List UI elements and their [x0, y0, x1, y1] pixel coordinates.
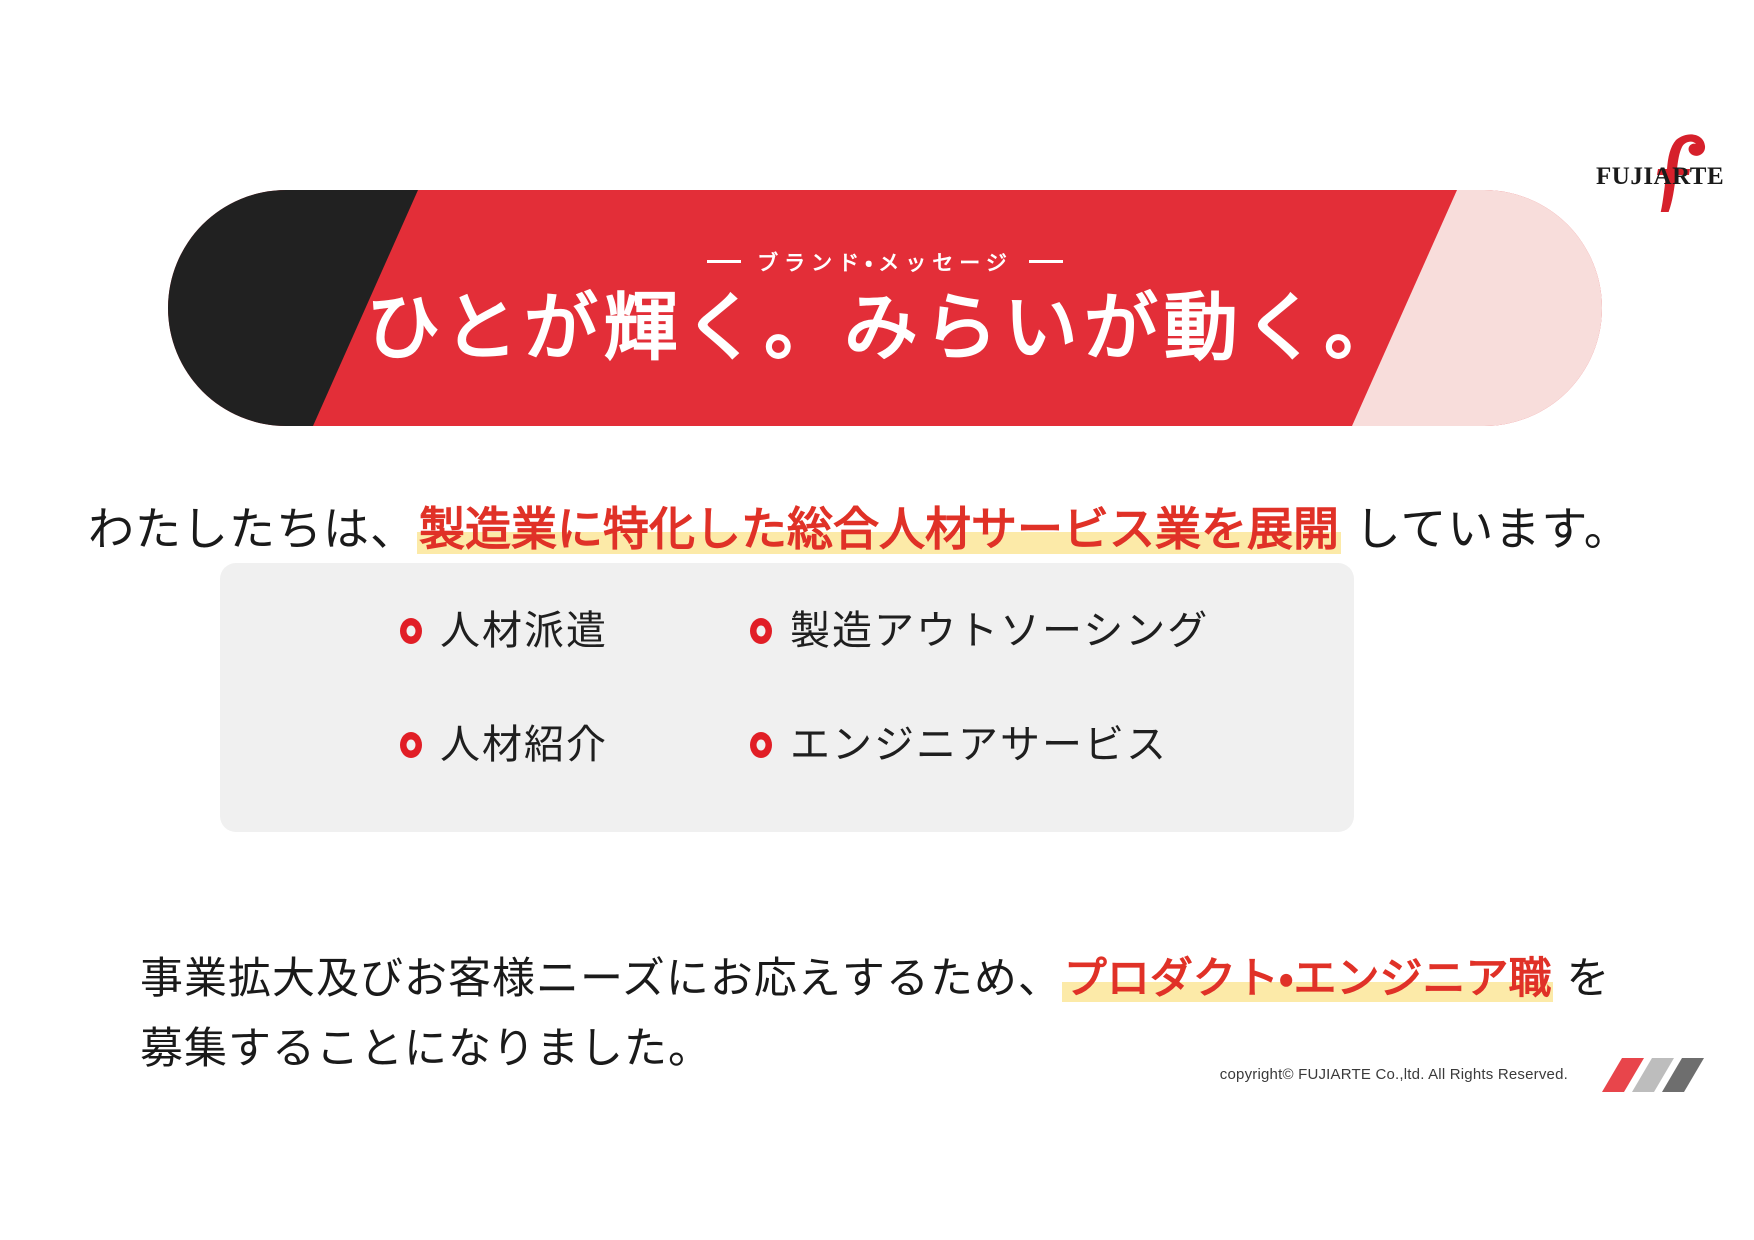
lead-highlight: 製造業に特化した総合人材サービス業を展開: [417, 503, 1341, 555]
services-grid: 人材派遣 製造アウトソーシング 人材紹介 エンジニアサービス: [400, 611, 1209, 765]
closing-highlight: プロダクト・エンジニア職: [1062, 955, 1554, 1003]
closing-text-after: を: [1553, 955, 1610, 1003]
service-label: 人材紹介: [440, 725, 608, 765]
service-label: エンジニアサービス: [790, 725, 1168, 765]
eyebrow-rule-left: [707, 260, 741, 263]
service-item: 人材派遣: [400, 611, 750, 651]
diagonal-stripes-icon: [1600, 1058, 1726, 1092]
services-panel: 人材派遣 製造アウトソーシング 人材紹介 エンジニアサービス: [220, 563, 1354, 832]
ring-bullet-icon: [400, 732, 422, 758]
service-label: 人材派遣: [440, 611, 608, 651]
closing-line-1: 事業拡大及びお客様ニーズにお応えするため、プロダクト・エンジニア職 を: [140, 945, 1700, 1015]
banner-slogan: ひとが輝く。みらいが動く。: [366, 287, 1404, 370]
logo-wordmark: FUJIARTE: [1596, 163, 1724, 190]
eyebrow-rule-right: [1029, 260, 1063, 263]
service-item: 製造アウトソーシング: [750, 611, 1209, 651]
lead-text-after: しています。: [1341, 503, 1631, 555]
service-item: エンジニアサービス: [750, 725, 1209, 765]
service-item: 人材紹介: [400, 725, 750, 765]
lead-sentence: わたしたちは、製造業に特化した総合人材サービス業を展開 しています。: [88, 500, 1678, 559]
eyebrow-label: ブランド・メッセージ: [757, 247, 1013, 277]
ring-bullet-icon: [750, 732, 772, 758]
brand-message-banner: ブランド・メッセージ ひとが輝く。みらいが動く。: [168, 190, 1602, 426]
closing-paragraph: 事業拡大及びお客様ニーズにお応えするため、プロダクト・エンジニア職 を 募集する…: [140, 945, 1700, 1084]
ring-bullet-icon: [400, 618, 422, 644]
service-label: 製造アウトソーシング: [790, 611, 1209, 651]
closing-text-before: 事業拡大及びお客様ニーズにお応えするため、: [140, 955, 1062, 1003]
lead-text-before: わたしたちは、: [88, 503, 417, 555]
banner-eyebrow: ブランド・メッセージ: [707, 247, 1063, 277]
ring-bullet-icon: [750, 618, 772, 644]
fujiarte-logo: FUJIARTE: [1588, 122, 1728, 212]
copyright-text: copyright© FUJIARTE Co.,ltd. All Rights …: [1220, 1066, 1568, 1083]
